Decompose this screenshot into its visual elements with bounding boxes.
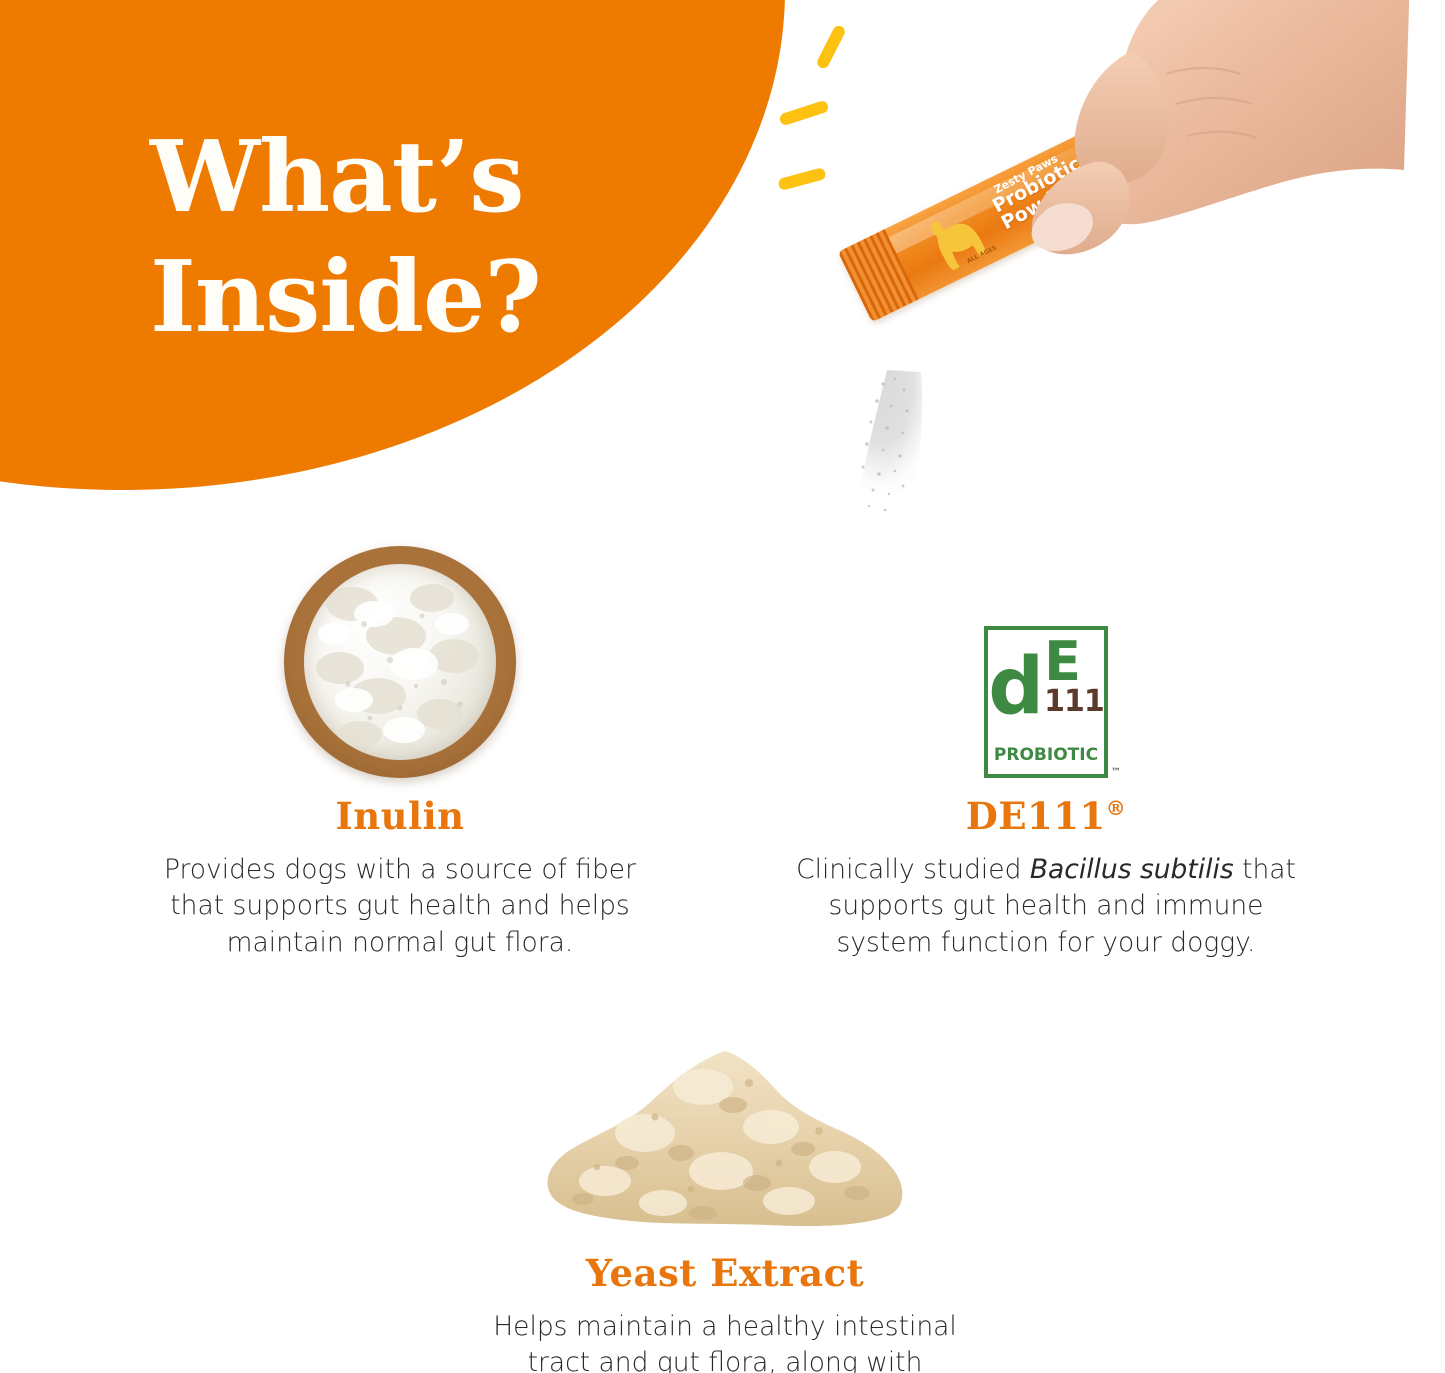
wooden-bowl-icon (284, 546, 516, 778)
de111-figure: d E 111 PROBIOTIC ™ (706, 528, 1386, 778)
de111-desc-species: Bacillus subtilis (1030, 854, 1234, 885)
falling-powder (843, 370, 1023, 520)
sparkle-dash-1 (815, 24, 847, 70)
de111-logo-stack: E 111 (1044, 638, 1104, 717)
ingredient-title-de111: DE111® (706, 794, 1386, 838)
yeast-extract-figure (370, 985, 1080, 1235)
ingredient-title-yeast-extract: Yeast Extract (370, 1251, 1080, 1295)
product-photo: Zesty Paws Probiotic Powder Digestive He… (795, 0, 1395, 520)
ingredient-description-de111: Clinically studied Bacillus subtilis tha… (786, 852, 1306, 961)
ingredient-description-yeast-extract: Helps maintain a healthy intestinal trac… (465, 1309, 985, 1373)
hand-holding-packet (990, 0, 1410, 300)
ingredient-card-de111: d E 111 PROBIOTIC ™ DE111® Clinically st… (706, 528, 1386, 961)
de111-logo-lettering: d E 111 (988, 638, 1104, 720)
de111-logo-word: PROBIOTIC (988, 745, 1104, 765)
yeast-powder-mound-icon (535, 1035, 915, 1235)
de111-logo-letter-e: E (1044, 638, 1081, 687)
powder-texture (304, 564, 496, 760)
ingredient-title-de111-text: DE111 (966, 794, 1106, 838)
sparkle-dash-2 (778, 100, 829, 127)
sparkle-icon (795, 0, 975, 150)
page-title-line1: What’s (150, 120, 523, 235)
de111-logo-trademark: ™ (1111, 767, 1121, 778)
inulin-powder (304, 564, 496, 760)
de111-desc-pre: Clinically studied (796, 854, 1030, 885)
de111-logo-letter-d: d (988, 654, 1044, 720)
page-title: What’s Inside? (150, 118, 770, 357)
sparkle-dash-3 (777, 167, 826, 191)
de111-logo-icon: d E 111 PROBIOTIC ™ (984, 626, 1108, 778)
ingredient-card-inulin: Inulin Provides dogs with a source of fi… (60, 528, 740, 961)
infographic-page: What’s Inside? (0, 0, 1445, 1373)
ingredient-card-yeast-extract: Yeast Extract Helps maintain a healthy i… (370, 985, 1080, 1373)
de111-logo-number: 111 (1044, 687, 1104, 717)
registered-mark: ® (1106, 796, 1127, 820)
page-title-line2: Inside? (150, 238, 770, 358)
inulin-figure (60, 528, 740, 778)
ingredient-title-inulin: Inulin (60, 794, 740, 838)
ingredient-description-inulin: Provides dogs with a source of fiber tha… (140, 852, 660, 961)
